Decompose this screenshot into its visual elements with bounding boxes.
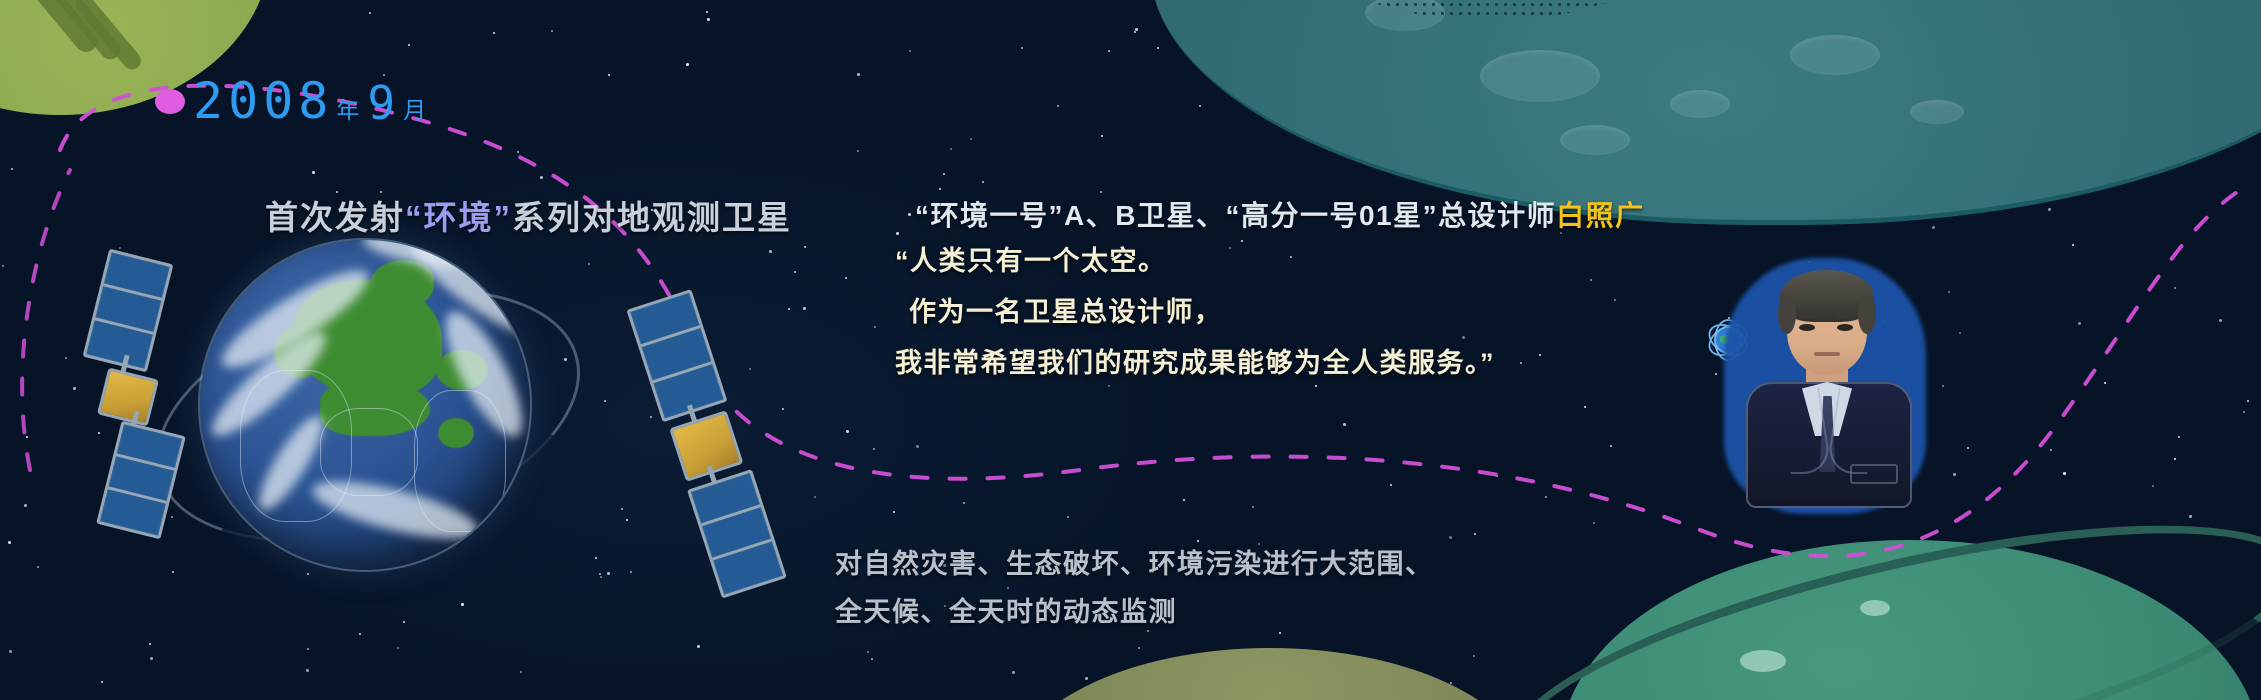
infographic-banner: 2008 年 9 月 首次发射“环境”系列对地观测卫星 “环境一号”A、B卫星、… xyxy=(0,0,2261,700)
timeline-month: 9 xyxy=(367,76,400,130)
portrait-mouth xyxy=(1814,352,1840,356)
credit-satellites: “环境一号”A、B卫星、“高分一号01星” xyxy=(915,200,1438,231)
timeline-year: 2008 xyxy=(193,72,333,130)
portrait-hair-left xyxy=(1778,294,1796,334)
headline: 首次发射“环境”系列对地观测卫星 xyxy=(265,191,792,239)
satellite-body xyxy=(97,367,159,426)
portrait-eye-right xyxy=(1837,324,1853,331)
earth-atmosphere-rim xyxy=(198,238,532,572)
portrait-brow-right xyxy=(1836,314,1856,319)
timeline-year-unit: 年 xyxy=(336,91,364,130)
description-line-1: 对自然灾害、生态破坏、环境污染进行大范围、 xyxy=(835,540,1434,588)
description-line-2: 全天候、全天时的动态监测 xyxy=(835,588,1434,636)
headline-prefix: 首次发射 xyxy=(265,199,405,236)
timeline-dot-marker xyxy=(155,89,185,114)
credit-role: 总设计师 xyxy=(1438,200,1556,231)
portrait-eye-left xyxy=(1799,324,1815,331)
portrait-hair-right xyxy=(1858,294,1876,334)
satellite-left xyxy=(70,255,200,475)
portrait-pocket xyxy=(1850,464,1898,484)
designer-name: 白照广 xyxy=(1556,200,1645,231)
timeline-month-unit: 月 xyxy=(403,91,431,130)
headline-suffix: 系列对地观测卫星 xyxy=(512,199,792,236)
quote-line-3: 我非常希望我们的研究成果能够为全人类服务。” xyxy=(895,338,1495,389)
portrait-brow-left xyxy=(1798,314,1818,319)
solar-panel-4 xyxy=(687,469,787,598)
timeline-date: 2008 年 9 月 xyxy=(193,72,431,130)
credit-line: “环境一号”A、B卫星、“高分一号01星”总设计师白照广 xyxy=(915,194,1645,234)
designer-portrait xyxy=(1740,270,1910,500)
headline-quote-open: “ xyxy=(405,199,424,236)
headline-quote-close: ” xyxy=(494,199,513,236)
quote-block: “人类只有一个太空。 作为一名卫星总设计师， 我非常希望我们的研究成果能够为全人… xyxy=(895,236,1495,389)
headline-accent: 环境 xyxy=(424,199,494,236)
satellite-body-2 xyxy=(669,410,743,482)
quote-line-2: 作为一名卫星总设计师， xyxy=(895,287,1495,338)
earth-globe-illustration xyxy=(200,240,530,570)
description-block: 对自然灾害、生态破坏、环境污染进行大范围、 全天候、全天时的动态监测 xyxy=(835,540,1434,636)
quote-line-1: “人类只有一个太空。 xyxy=(895,246,1167,276)
solar-panel xyxy=(83,249,174,373)
